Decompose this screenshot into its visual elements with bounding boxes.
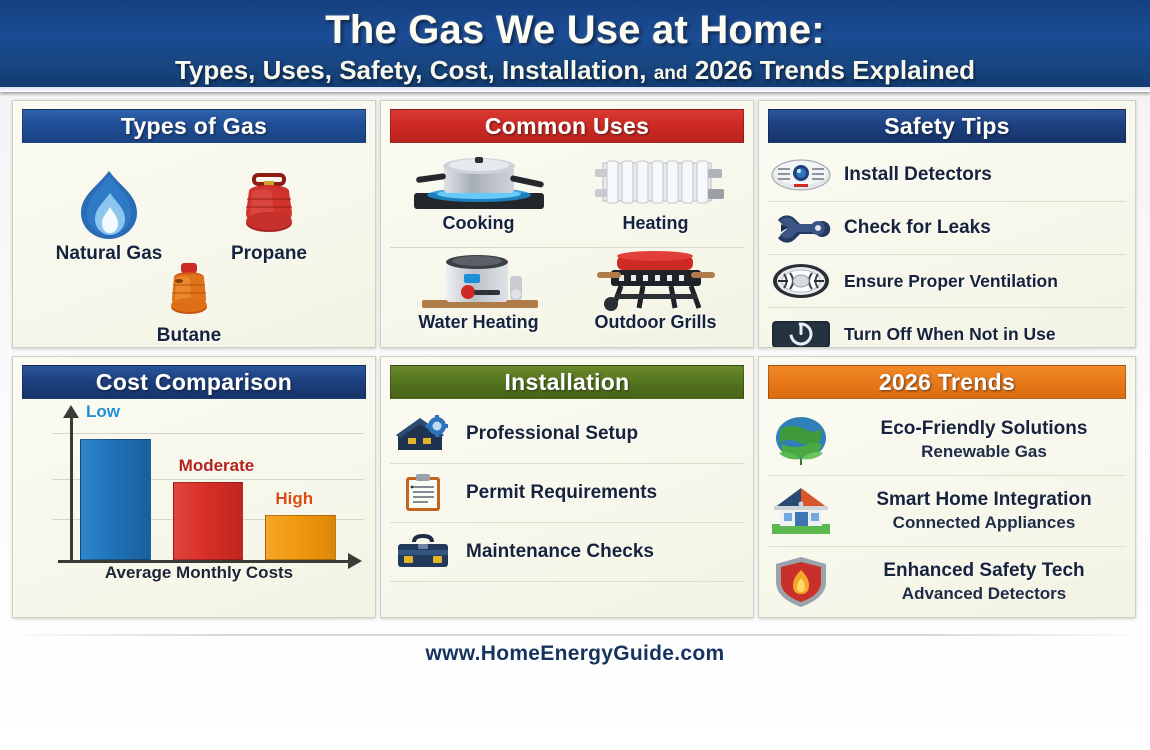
bar-column-moderate[interactable]: Moderate (173, 418, 244, 560)
trend-texts: Smart Home Integration Connected Applian… (844, 489, 1124, 533)
use-item-water-heating[interactable]: Water Heating (390, 247, 567, 345)
bar-label: High (275, 489, 313, 509)
flame-droplet-icon (67, 169, 151, 241)
card-header-safety: Safety Tips (768, 109, 1126, 143)
use-label: Water Heating (390, 312, 567, 333)
trend-item-smart-home[interactable]: Smart Home Integration Connected Applian… (768, 476, 1126, 547)
infographic-footer: www.HomeEnergyGuide.com (0, 634, 1150, 666)
chart-plot-area: Low Moderate High Average Monthly Costs (34, 409, 364, 581)
safety-item-ventilation[interactable]: Ensure Proper Ventilation (768, 255, 1126, 308)
stove-pot-icon (390, 151, 567, 213)
safety-item-install-detectors[interactable]: Install Detectors (768, 149, 1126, 202)
bar-label: Low (86, 402, 120, 422)
installation-list: Professional Setup (390, 405, 744, 582)
page-title: The Gas We Use at Home: (0, 0, 1150, 54)
safety-label: Check for Leaks (844, 217, 991, 239)
installation-label: Professional Setup (466, 423, 638, 445)
propane-tank-icon (226, 169, 312, 241)
installation-item-permit-requirements[interactable]: Permit Requirements (390, 464, 744, 523)
bar-low (80, 439, 151, 560)
cards-grid: Types of Gas Natural Gas (12, 100, 1140, 630)
safety-item-check-leaks[interactable]: Check for Leaks (768, 202, 1126, 255)
use-label: Outdoor Grills (567, 312, 744, 333)
safety-item-turn-off[interactable]: Turn Off When Not in Use (768, 308, 1126, 348)
smart-house-icon (770, 484, 832, 538)
card-cost-comparison: Cost Comparison Low (12, 356, 376, 618)
card-header-uses: Common Uses (390, 109, 744, 143)
water-heater-icon (390, 250, 567, 312)
use-label: Cooking (390, 213, 567, 234)
page-subtitle: Types, Uses, Safety, Cost, Installation,… (0, 54, 1150, 90)
card-types-of-gas: Types of Gas Natural Gas (12, 100, 376, 348)
type-item-propane[interactable]: Propane (194, 169, 344, 265)
safety-label: Ensure Proper Ventilation (844, 270, 1058, 292)
toolbox-icon (392, 532, 454, 572)
installation-item-professional-setup[interactable]: Professional Setup (390, 405, 744, 464)
ventilation-fan-icon (770, 261, 832, 301)
installation-label: Permit Requirements (466, 482, 657, 504)
bar-moderate (173, 482, 244, 560)
trend-subtitle: Renewable Gas (844, 442, 1124, 462)
power-button-icon (770, 314, 832, 348)
clipboard-icon (392, 473, 454, 513)
y-axis-arrow (63, 405, 79, 418)
footer-url[interactable]: www.HomeEnergyGuide.com (0, 636, 1150, 666)
subtitle-part-b: 2026 Trends Explained (695, 55, 975, 85)
wrench-icon (770, 208, 832, 248)
card-2026-trends: 2026 Trends Eco-Friend (758, 356, 1136, 618)
butane-tank-icon (153, 261, 225, 323)
house-gear-icon (392, 414, 454, 454)
type-item-butane[interactable]: Butane (114, 261, 264, 347)
safety-list: Install Detectors Check for Leaks (768, 149, 1126, 348)
trend-item-eco-friendly[interactable]: Eco-Friendly Solutions Renewable Gas (768, 405, 1126, 476)
installation-label: Maintenance Checks (466, 541, 654, 563)
card-safety-tips: Safety Tips (758, 100, 1136, 348)
subtitle-and: and (654, 63, 688, 84)
trend-texts: Enhanced Safety Tech Advanced Detectors (844, 560, 1124, 604)
uses-grid: Cooking (390, 149, 744, 345)
globe-leaves-icon (770, 413, 832, 467)
infographic-header: The Gas We Use at Home: Types, Uses, Saf… (0, 0, 1150, 92)
card-header-cost: Cost Comparison (22, 365, 366, 399)
card-common-uses: Common Uses (380, 100, 754, 348)
trend-title: Smart Home Integration (844, 489, 1124, 511)
trend-subtitle: Advanced Detectors (844, 584, 1124, 604)
installation-item-maintenance-checks[interactable]: Maintenance Checks (390, 523, 744, 582)
type-item-natural-gas[interactable]: Natural Gas (34, 169, 184, 265)
trend-title: Eco-Friendly Solutions (844, 418, 1124, 440)
bar-column-low[interactable]: Low (80, 418, 151, 560)
use-item-outdoor-grills[interactable]: Outdoor Grills (567, 247, 744, 345)
bar-label: Moderate (179, 456, 255, 476)
x-axis-title: Average Monthly Costs (34, 563, 364, 583)
trend-item-safety-tech[interactable]: Enhanced Safety Tech Advanced Detectors (768, 547, 1126, 618)
types-body: Natural Gas (22, 149, 366, 345)
trend-texts: Eco-Friendly Solutions Renewable Gas (844, 418, 1124, 462)
infographic-page: The Gas We Use at Home: Types, Uses, Saf… (0, 0, 1150, 750)
y-axis (70, 415, 73, 563)
card-header-trends: 2026 Trends (768, 365, 1126, 399)
use-item-cooking[interactable]: Cooking (390, 149, 567, 247)
grill-icon (567, 250, 744, 312)
type-label: Butane (114, 325, 264, 347)
bar-column-high[interactable]: High (265, 418, 336, 560)
use-item-heating[interactable]: Heating (567, 149, 744, 247)
trend-title: Enhanced Safety Tech (844, 560, 1124, 582)
subtitle-part-a: Types, Uses, Safety, Cost, Installation, (175, 55, 647, 85)
card-header-types: Types of Gas (22, 109, 366, 143)
trends-list: Eco-Friendly Solutions Renewable Gas (768, 405, 1126, 618)
gas-detector-icon (770, 155, 832, 195)
bar-series: Low Moderate High (80, 418, 336, 560)
card-installation: Installation (380, 356, 754, 618)
bar-high (265, 515, 336, 560)
use-label: Heating (567, 213, 744, 234)
radiator-icon (567, 151, 744, 213)
cost-chart: Low Moderate High Average Monthly Costs (22, 405, 366, 613)
shield-flame-icon (770, 555, 832, 609)
trend-subtitle: Connected Appliances (844, 513, 1124, 533)
safety-label: Turn Off When Not in Use (844, 323, 1056, 345)
card-header-installation: Installation (390, 365, 744, 399)
safety-label: Install Detectors (844, 164, 992, 186)
